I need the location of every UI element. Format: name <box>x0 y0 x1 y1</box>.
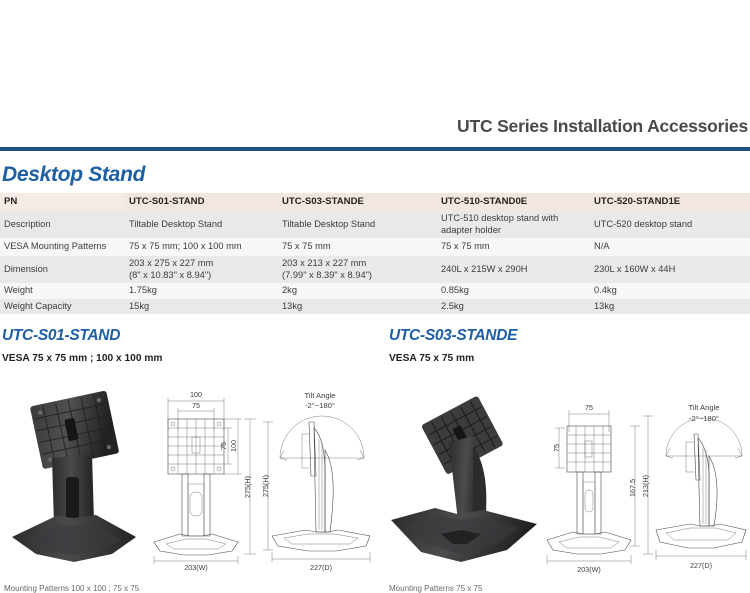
tilt-angle-range: -2°~180° <box>689 414 719 423</box>
dim-side-depth: 227(D) <box>310 563 332 572</box>
cell-vesa-s01: 75 x 75 mm; 100 x 100 mm <box>125 238 278 256</box>
product-name-utc-s01-stand: UTC-S01-STAND <box>2 327 382 345</box>
dim-front-side: 75 <box>552 444 561 452</box>
table-header-pn: PN <box>0 193 125 211</box>
dim-front-outer-side: 100 <box>229 440 238 452</box>
dim-side-depth: 227(D) <box>690 561 712 570</box>
cell-weight-s03: 2kg <box>278 283 437 299</box>
dim-front-height: 275(H) <box>243 476 252 498</box>
table-header-row: PN UTC-S01-STAND UTC-S03-STANDE UTC-510-… <box>0 193 750 211</box>
page-title: UTC Series Installation Accessories <box>457 116 748 137</box>
page-header: UTC Series Installation Accessories <box>0 0 750 152</box>
tilt-angle-range: -2°~180° <box>305 401 335 410</box>
dim-front-outer-top: 100 <box>190 390 202 399</box>
dim-front-top: 75 <box>585 403 593 412</box>
table-row-weight-capacity: Weight Capacity 15kg 13kg 2.5kg 13kg <box>0 299 750 315</box>
cell-dimension-510: 240L x 215W x 290H <box>437 256 590 283</box>
side-view-drawing-utc-s03-stande: Tilt Angle -2°~180° <box>652 384 750 574</box>
row-label-vesa: VESA Mounting Patterns <box>0 238 125 256</box>
section-title: Desktop Stand <box>2 163 145 187</box>
dim-front-inner-top: 75 <box>192 401 200 410</box>
product-name-utc-s03-stande: UTC-S03-STANDE <box>389 327 750 345</box>
cell-weight-510: 0.85kg <box>437 283 590 299</box>
table-row-vesa-mounting-patterns: VESA Mounting Patterns 75 x 75 mm; 100 x… <box>0 238 750 256</box>
row-label-description: Description <box>0 211 125 238</box>
cell-vesa-s03: 75 x 75 mm <box>278 238 437 256</box>
cell-dimension-s03-inch: (7.99" x 8.39" x 8.94") <box>282 270 437 282</box>
cell-dimension-s01: 203 x 275 x 227 mm (8" x 10.83" x 8.94") <box>125 256 278 283</box>
tilt-angle-label: Tilt Angle <box>689 403 720 412</box>
cell-weight-520: 0.4kg <box>590 283 750 299</box>
product-block-utc-s01-stand: UTC-S01-STAND VESA 75 x 75 mm ; 100 x 10… <box>2 327 382 364</box>
row-label-weight-capacity: Weight Capacity <box>0 299 125 315</box>
row-label-weight: Weight <box>0 283 125 299</box>
table-header-utc-510-stand0e: UTC-510-STAND0E <box>437 193 590 211</box>
cell-dimension-s01-inch: (8" x 10.83" x 8.94") <box>129 270 278 282</box>
cell-dimension-520: 230L x 160W x 44H <box>590 256 750 283</box>
product-photo-utc-s03-stande <box>387 384 542 574</box>
cell-capacity-s01: 15kg <box>125 299 278 315</box>
cell-vesa-510: 75 x 75 mm <box>437 238 590 256</box>
tilt-angle-label: Tilt Angle <box>305 391 336 400</box>
cell-dimension-s03-mm: 203 x 213 x 227 mm <box>282 258 437 270</box>
product-photo-utc-s01-stand <box>4 382 144 572</box>
footer-caption-utc-s03-stande: Mounting Patterns 75 x 75 <box>389 584 482 593</box>
cell-description-510: UTC-510 desktop stand with adapter holde… <box>437 211 590 238</box>
figure-row-utc-s01-stand: 100 75 <box>0 378 382 578</box>
table-header-utc-s01-stand: UTC-S01-STAND <box>125 193 278 211</box>
dim-front-width: 203(W) <box>184 563 208 572</box>
dim-side-height: 275(H) <box>261 475 270 497</box>
product-block-utc-s03-stande: UTC-S03-STANDE VESA 75 x 75 mm <box>389 327 750 364</box>
cell-dimension-s01-mm: 203 x 275 x 227 mm <box>129 258 278 270</box>
dim-front-width: 203(W) <box>577 565 601 574</box>
front-view-drawing-utc-s01-stand: 100 75 <box>146 384 261 574</box>
specification-table: PN UTC-S01-STAND UTC-S03-STANDE UTC-510-… <box>0 193 750 314</box>
cell-capacity-s03: 13kg <box>278 299 437 315</box>
cell-weight-s01: 1.75kg <box>125 283 278 299</box>
front-view-drawing-utc-s03-stande: 75 75 <box>543 386 655 576</box>
cell-dimension-s03: 203 x 213 x 227 mm (7.99" x 8.39" x 8.94… <box>278 256 437 283</box>
product-vesa-utc-s01-stand: VESA 75 x 75 mm ; 100 x 100 mm <box>2 353 382 364</box>
footer-caption-utc-s01-stand: Mounting Patterns 100 x 100 ; 75 x 75 <box>4 584 139 593</box>
cell-vesa-520: N/A <box>590 238 750 256</box>
row-label-dimension: Dimension <box>0 256 125 283</box>
figure-row-utc-s03-stande: 75 75 <box>385 378 750 578</box>
header-divider-rule <box>0 147 750 151</box>
table-header-utc-520-stand1e: UTC-520-STAND1E <box>590 193 750 211</box>
dim-front-height: 213(H) <box>641 475 650 497</box>
table-header-utc-s03-stande: UTC-S03-STANDE <box>278 193 437 211</box>
table-row-description: Description Tiltable Desktop Stand Tilta… <box>0 211 750 238</box>
table-row-dimension: Dimension 203 x 275 x 227 mm (8" x 10.83… <box>0 256 750 283</box>
table-row-weight: Weight 1.75kg 2kg 0.85kg 0.4kg <box>0 283 750 299</box>
cell-description-520: UTC-520 desktop stand <box>590 211 750 238</box>
cell-capacity-510: 2.5kg <box>437 299 590 315</box>
cell-description-s01: Tiltable Desktop Stand <box>125 211 278 238</box>
cell-capacity-520: 13kg <box>590 299 750 315</box>
cell-description-s03: Tiltable Desktop Stand <box>278 211 437 238</box>
dim-front-mid-height: 167.5 <box>628 479 637 497</box>
dim-front-inner-side: 75 <box>219 442 228 450</box>
product-vesa-utc-s03-stande: VESA 75 x 75 mm <box>389 353 750 364</box>
side-view-drawing-utc-s01-stand: Tilt Angle -2°~180° <box>262 384 380 574</box>
